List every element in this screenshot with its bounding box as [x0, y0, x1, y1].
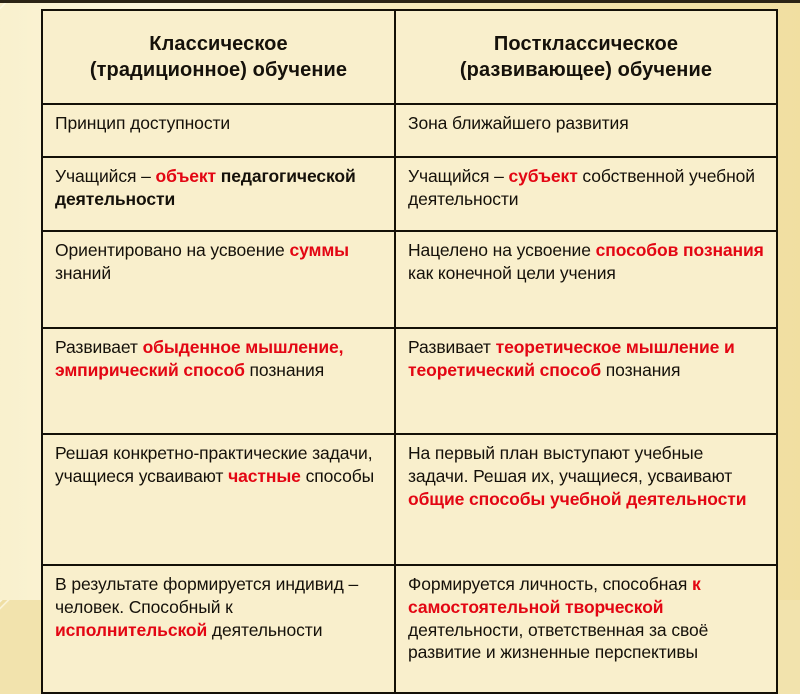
cell-classic: Развивает обыденное мышление, эмпирическ…: [42, 328, 395, 434]
text-segment: общие способы учебной деятельности: [408, 489, 746, 509]
text-segment: Учащийся –: [55, 166, 156, 186]
cell-postclassic: Нацелено на усвоение способов познания к…: [395, 231, 777, 328]
cell-classic: Решая конкретно-практические задачи, уча…: [42, 434, 395, 565]
text-segment: знаний: [55, 263, 111, 283]
column-header-classic-line2: (традиционное) обучение: [51, 57, 386, 83]
cell-classic: Ориентировано на усвоение суммы знаний: [42, 231, 395, 328]
text-segment: познания: [601, 360, 680, 380]
cell-postclassic: Зона ближайшего развития: [395, 104, 777, 157]
column-header-classic: Классическое (традиционное) обучение: [42, 10, 395, 104]
text-segment: способов познания: [596, 240, 764, 260]
table-row: В результате формируется индивид – челов…: [42, 565, 777, 693]
cell-classic: В результате формируется индивид – челов…: [42, 565, 395, 693]
text-segment: В результате формируется индивид – челов…: [55, 574, 358, 617]
text-segment: способы: [301, 466, 374, 486]
text-segment: Нацелено на усвоение: [408, 240, 596, 260]
table-row: Решая конкретно-практические задачи, уча…: [42, 434, 777, 565]
cell-classic: Учащийся – объект педагогической деятель…: [42, 157, 395, 231]
text-segment: деятельности: [207, 620, 322, 640]
text-segment: Зона ближайшего развития: [408, 113, 629, 133]
column-header-postclassic-line2: (развивающее) обучение: [404, 57, 768, 83]
text-segment: объект: [156, 166, 217, 186]
table-row: Принцип доступности Зона ближайшего разв…: [42, 104, 777, 157]
text-segment: как конечной цели учения: [408, 263, 616, 283]
cell-classic: Принцип доступности: [42, 104, 395, 157]
table-row: Ориентировано на усвоение суммы знаний Н…: [42, 231, 777, 328]
table-header-row: Классическое (традиционное) обучение Пос…: [42, 10, 777, 104]
text-segment: исполнительской: [55, 620, 207, 640]
column-header-postclassic: Постклассическое (развивающее) обучение: [395, 10, 777, 104]
text-segment: субъект: [509, 166, 578, 186]
cell-postclassic: Формируется личность, способная к самост…: [395, 565, 777, 693]
text-segment: суммы: [289, 240, 349, 260]
text-segment: На первый план выступают учебные задачи.…: [408, 443, 732, 486]
table-header: Классическое (традиционное) обучение Пос…: [42, 10, 777, 104]
text-segment: Принцип доступности: [55, 113, 230, 133]
table-row: Развивает обыденное мышление, эмпирическ…: [42, 328, 777, 434]
column-header-postclassic-line1: Постклассическое: [404, 31, 768, 57]
comparison-table-container: Классическое (традиционное) обучение Пос…: [41, 9, 776, 588]
comparison-table: Классическое (традиционное) обучение Пос…: [41, 9, 778, 694]
table-row: Учащийся – объект педагогической деятель…: [42, 157, 777, 231]
text-segment: Учащийся –: [408, 166, 509, 186]
text-segment: Развивает: [408, 337, 496, 357]
text-segment: Развивает: [55, 337, 143, 357]
text-segment: частные: [228, 466, 301, 486]
text-segment: Ориентировано на усвоение: [55, 240, 289, 260]
table-body: Принцип доступности Зона ближайшего разв…: [42, 104, 777, 693]
cell-postclassic: На первый план выступают учебные задачи.…: [395, 434, 777, 565]
text-segment: Формируется личность, способная: [408, 574, 692, 594]
cell-postclassic: Развивает теоретическое мышление и теоре…: [395, 328, 777, 434]
top-rule-divider: [0, 0, 800, 3]
column-header-classic-line1: Классическое: [51, 31, 386, 57]
text-segment: деятельности, ответственная за своё разв…: [408, 620, 708, 663]
cell-postclassic: Учащийся – субъект собственной учебной д…: [395, 157, 777, 231]
text-segment: познания: [245, 360, 324, 380]
